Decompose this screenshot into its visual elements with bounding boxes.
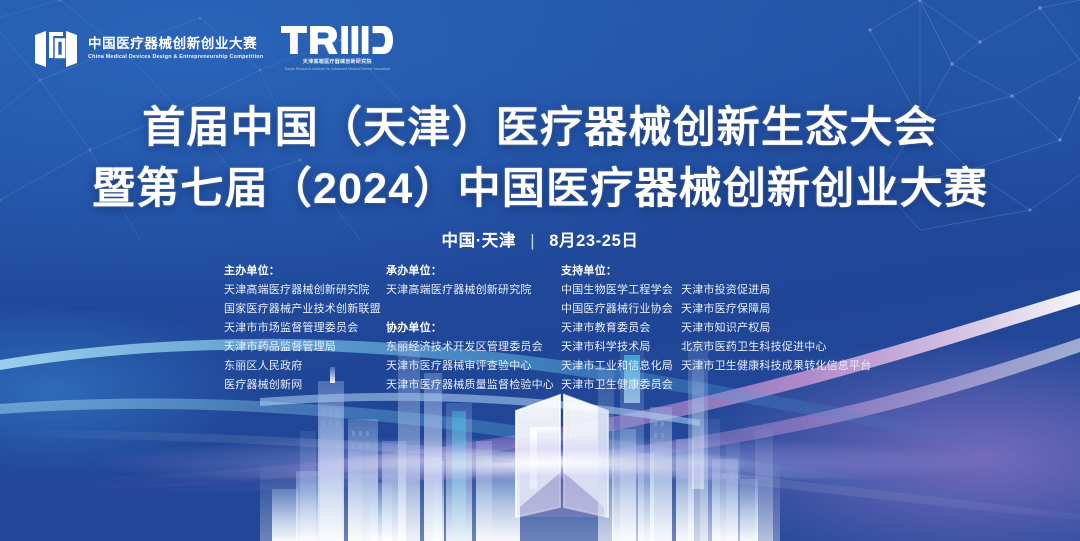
- organizer-item: 国家医疗器械产业技术创新联盟: [224, 300, 386, 319]
- organizer-spacer: [386, 300, 561, 319]
- organizer-item: 天津市教育委员会: [561, 319, 681, 338]
- organizer-heading: 主办单位：: [224, 262, 386, 281]
- organizer-item: 天津市市场监督管理委员会: [224, 319, 386, 338]
- organizer-spacer: [681, 262, 871, 281]
- organizer-item: 天津市医疗器械审评查验中心: [386, 357, 561, 376]
- organizer-item: 东丽经济技术开发区管理委员会: [386, 338, 561, 357]
- page-title: 首届中国（天津）医疗器械创新生态大会 暨第七届（2024）中国医疗器械创新创业大…: [0, 98, 1080, 220]
- header-logos: 中国医疗器械创新创业大赛 China Medical Devices Desig…: [33, 26, 393, 71]
- organizer-heading: 协办单位：: [386, 319, 561, 338]
- organizer-item: 天津市卫生健康科技成果转化信息平台: [681, 357, 871, 376]
- organizer-column-support-a: 支持单位： 中国生物医学工程学会 中国医疗器械行业协会 天津市教育委员会 天津市…: [561, 262, 681, 395]
- organizer-item: 医疗器械创新网: [224, 376, 386, 395]
- organizer-item: 天津市知识产权局: [681, 319, 871, 338]
- event-dateline: 中国·天津 | 8月23-25日: [0, 227, 1080, 251]
- organizer-heading: 承办单位：: [386, 262, 561, 281]
- organizer-heading: 支持单位：: [561, 262, 681, 281]
- organizer-column-organizer: 承办单位： 天津高端医疗器械创新研究院 协办单位： 东丽经济技术开发区管理委员会…: [386, 262, 561, 395]
- organizer-item: 天津市工业和信息化局: [561, 357, 681, 376]
- horizon-glow: [0, 439, 1080, 479]
- organizer-item: 北京市医药卫生科技促进中心: [681, 338, 871, 357]
- title-line-2: 暨第七届（2024）中国医疗器械创新创业大赛: [0, 159, 1080, 220]
- cmdc-door-mark-icon: [33, 29, 79, 69]
- organizer-item: 天津市医疗保障局: [681, 300, 871, 319]
- cmdc-logo-en: China Medical Devices Design & Entrepren…: [88, 55, 263, 60]
- title-line-1: 首届中国（天津）医疗器械创新生态大会: [0, 98, 1080, 159]
- conference-banner: 中国医疗器械创新创业大赛 China Medical Devices Desig…: [0, 0, 1080, 541]
- organizer-item: 天津市卫生健康委员会: [561, 376, 681, 395]
- cmdc-logo-cn: 中国医疗器械创新创业大赛: [88, 37, 263, 51]
- organizer-item: 天津高端医疗器械创新研究院: [224, 281, 386, 300]
- organizer-item: 天津市科学技术局: [561, 338, 681, 357]
- triid-logo[interactable]: 天津高端医疗器械创新研究院 Tianjin Research Institute…: [281, 26, 393, 71]
- organizer-item: 天津高端医疗器械创新研究院: [386, 281, 561, 300]
- organizer-item: 天津市投资促进局: [681, 281, 871, 300]
- organizer-item: 东丽区人民政府: [224, 357, 386, 376]
- organizer-item: 天津市医疗器械质量监督检验中心: [386, 376, 561, 395]
- organizer-item: 中国生物医学工程学会: [561, 281, 681, 300]
- organizer-column-host: 主办单位： 天津高端医疗器械创新研究院 国家医疗器械产业技术创新联盟 天津市市场…: [224, 262, 386, 395]
- event-location: 中国·天津: [442, 232, 517, 250]
- organizer-item: 中国医疗器械行业协会: [561, 300, 681, 319]
- triid-logo-cn: 天津高端医疗器械创新研究院: [303, 58, 372, 65]
- organizer-column-support-b: 天津市投资促进局 天津市医疗保障局 天津市知识产权局 北京市医药卫生科技促进中心…: [681, 262, 871, 376]
- triid-wordmark-icon: [281, 26, 393, 54]
- organizer-item: 天津市药品监督管理局: [224, 338, 386, 357]
- event-days: 8月23-25日: [549, 232, 638, 250]
- triid-logo-en: Tianjin Research Institute for Advanced …: [284, 67, 390, 71]
- organizer-columns: 主办单位： 天津高端医疗器械创新研究院 国家医疗器械产业技术创新联盟 天津市市场…: [224, 262, 884, 395]
- dateline-separator: |: [530, 232, 535, 251]
- cmdc-logo[interactable]: 中国医疗器械创新创业大赛 China Medical Devices Desig…: [33, 29, 281, 69]
